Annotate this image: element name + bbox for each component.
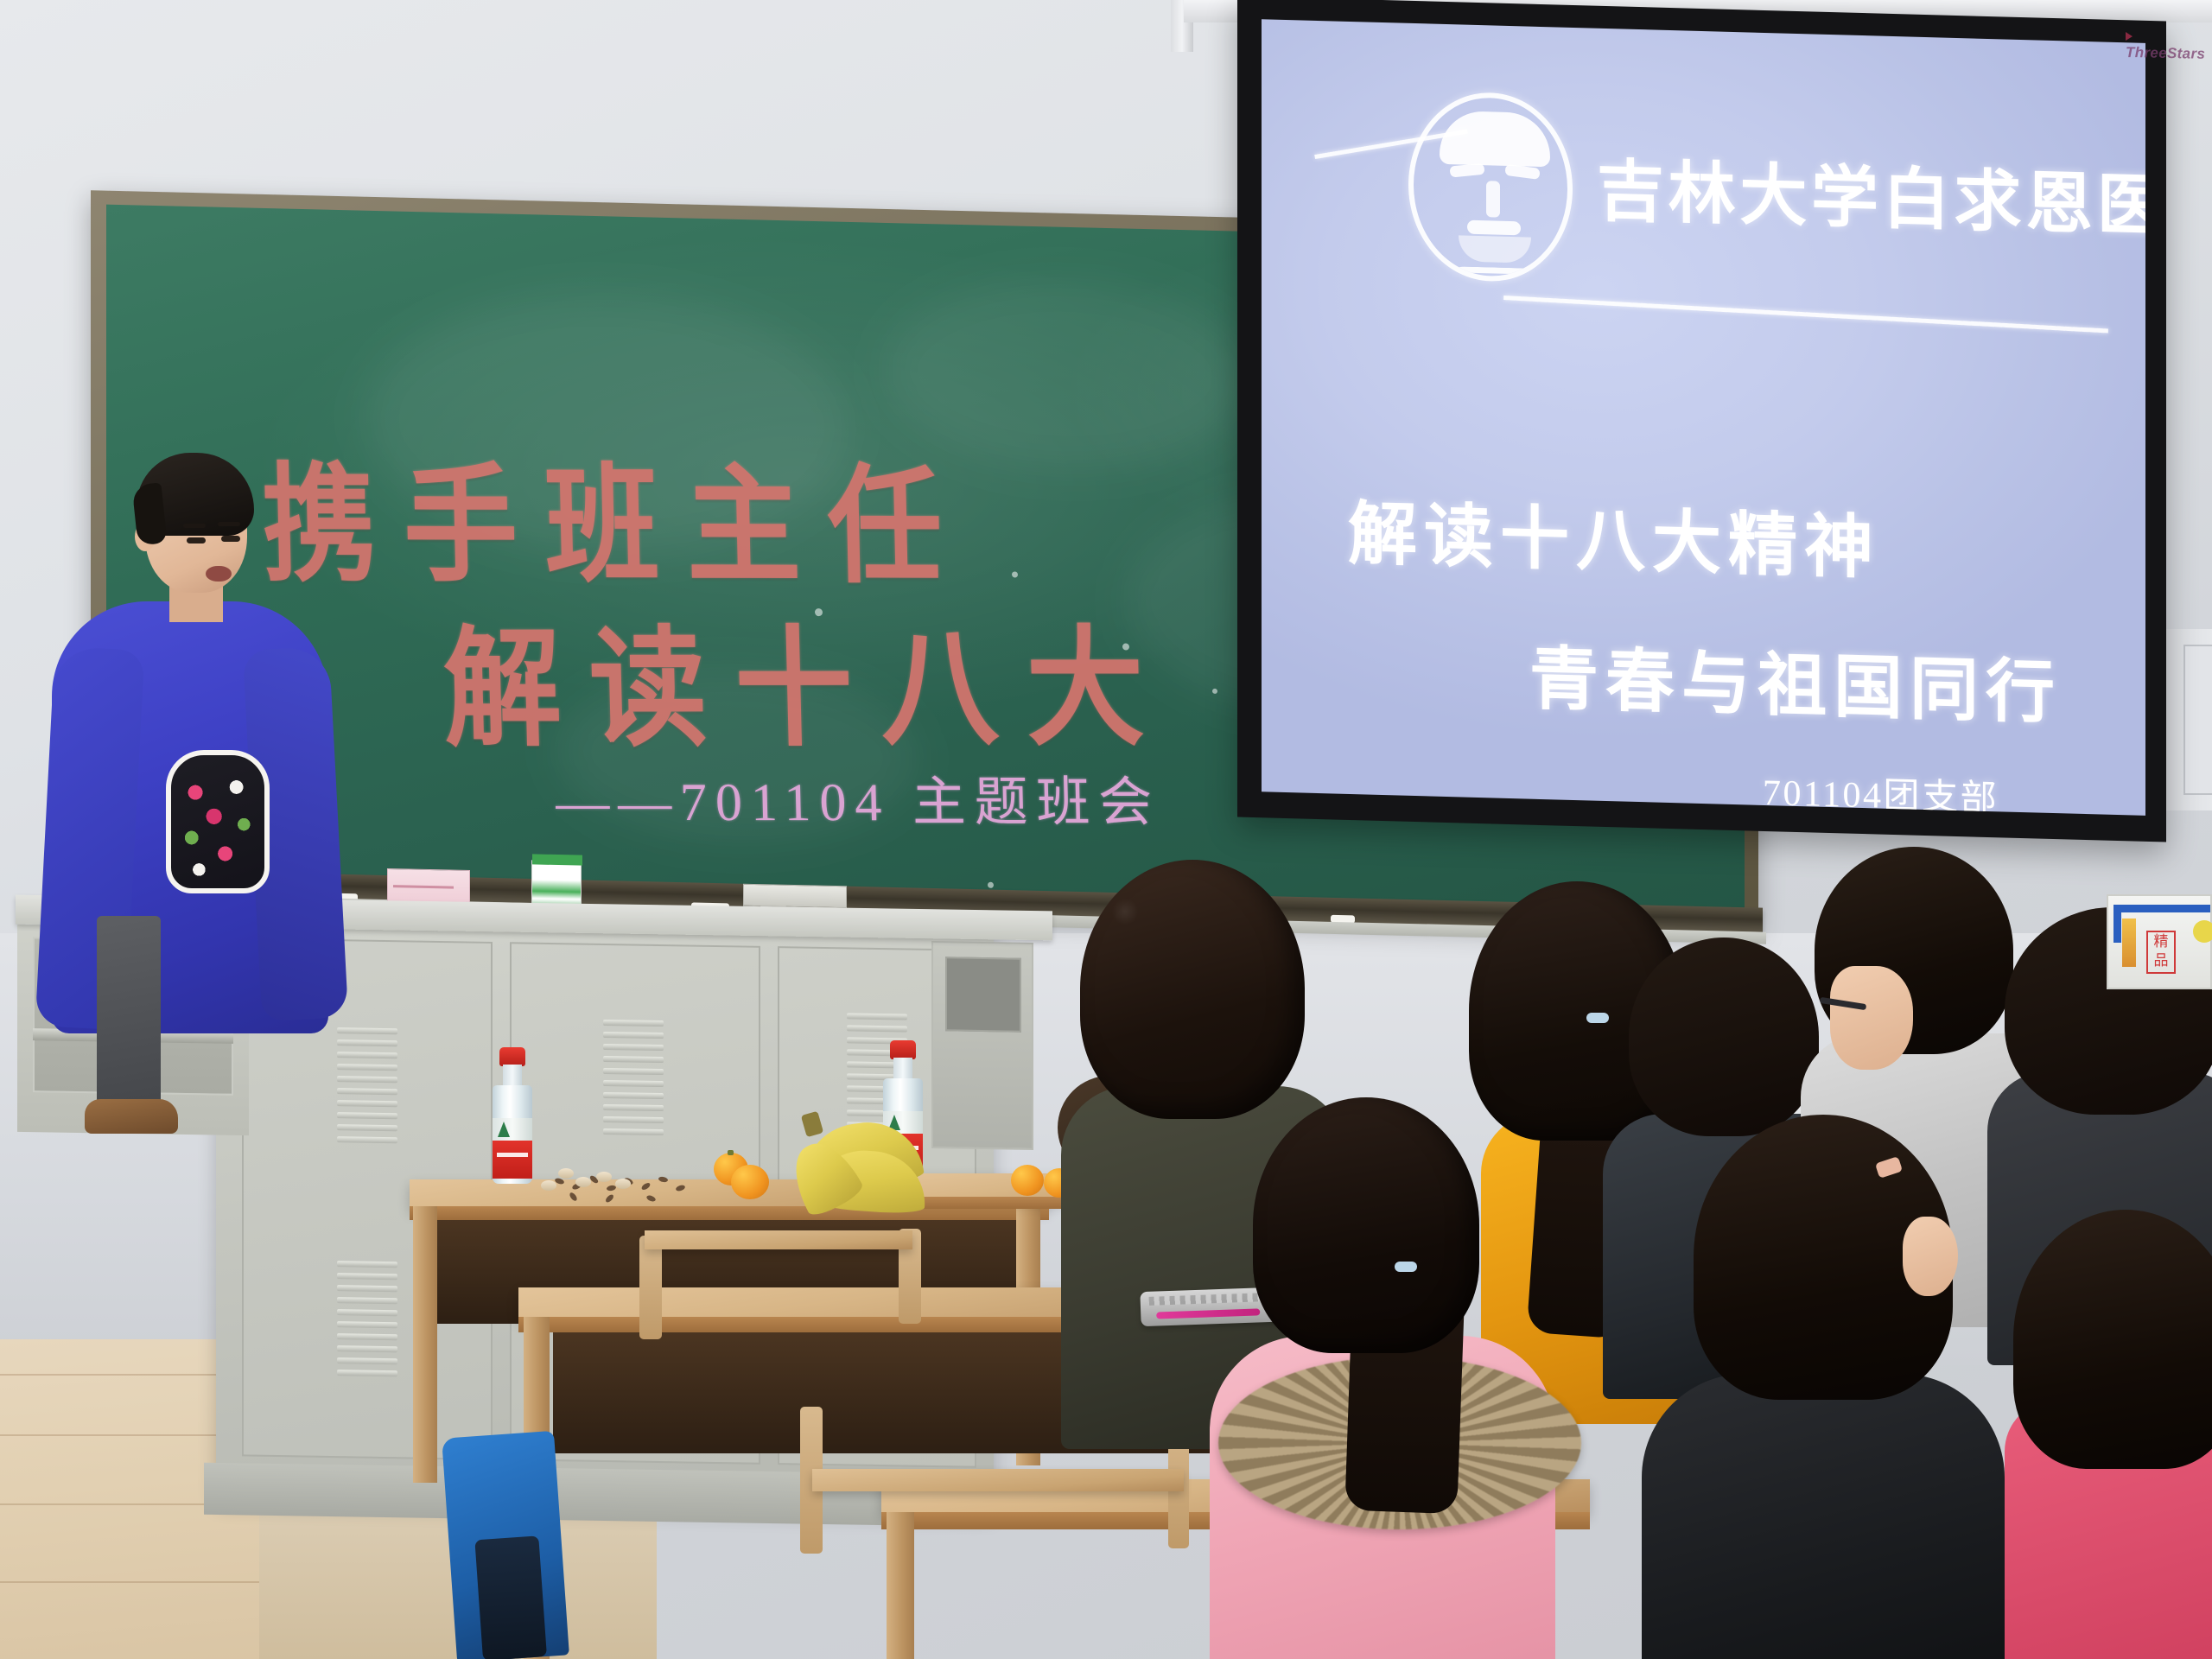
bottle-cap bbox=[890, 1040, 916, 1059]
presenter-legs bbox=[97, 916, 161, 1115]
presenter-sweater-graphic bbox=[166, 750, 270, 893]
presenter-eyebrow-right bbox=[218, 522, 240, 526]
bethune-portrait-icon bbox=[1408, 91, 1573, 283]
orange-2[interactable] bbox=[731, 1165, 769, 1199]
hair-tie bbox=[1395, 1262, 1417, 1272]
front-table-leg-left bbox=[413, 1206, 437, 1483]
projection-screen-frame: 吉林大学白求恩医学院 解读十八大精神 青春与祖国同行 701104团支部 bbox=[1237, 0, 2166, 842]
hair-tie bbox=[1586, 1013, 1609, 1023]
bottle-logo-icon bbox=[498, 1122, 510, 1137]
slide-title-line-2: 青春与祖国同行 bbox=[1529, 623, 2062, 738]
podium-side-compartment bbox=[931, 941, 1033, 1150]
projection-screen-surface: 吉林大学白求恩医学院 解读十八大精神 青春与祖国同行 701104团支部 bbox=[1262, 19, 2145, 816]
presenter-eye-left bbox=[187, 537, 206, 543]
box-circle-icon bbox=[2193, 920, 2212, 943]
slide-rule-bottom bbox=[1503, 296, 2108, 333]
bottle-cap bbox=[499, 1047, 525, 1066]
presenter-shoe bbox=[85, 1099, 178, 1134]
board-eraser bbox=[743, 884, 847, 909]
slide-organization: 吉林大学白求恩医学院 bbox=[1597, 137, 2145, 253]
screen-brand-label: ThreeStars bbox=[2126, 27, 2212, 63]
ponytail-hair bbox=[1253, 1097, 1479, 1353]
ear-and-neck bbox=[1903, 1217, 1958, 1296]
presenter-eyebrow-left bbox=[183, 524, 206, 528]
bench-back-1 bbox=[639, 1236, 662, 1339]
presenter-eye-right bbox=[221, 536, 240, 542]
bench-seat-1 bbox=[645, 1230, 912, 1249]
classroom-scene: 携手班主任 解读十八大 ——701104 主题班会 bbox=[0, 0, 2212, 1659]
slide-title-line-1: 解读十八大精神 bbox=[1348, 478, 1880, 593]
face-profile bbox=[1830, 966, 1913, 1070]
cardboard-box: 精品 bbox=[2107, 894, 2212, 989]
blackboard-line-2: 解读十八大 bbox=[441, 584, 1173, 772]
black-jacket bbox=[1642, 1374, 2005, 1659]
blackboard-subtitle: ——701104 主题班会 bbox=[555, 758, 1161, 836]
bench-seat-2 bbox=[812, 1469, 1184, 1491]
brand-triangle-icon bbox=[2126, 31, 2133, 40]
blue-bag[interactable] bbox=[442, 1431, 569, 1659]
student-desk-row2-leg bbox=[887, 1512, 914, 1659]
box-stamp: 精品 bbox=[2146, 931, 2176, 974]
slide-unit-label: 701104团支部 bbox=[1763, 763, 1999, 816]
presenter-mouth bbox=[206, 566, 232, 582]
long-hair-2 bbox=[2013, 1210, 2212, 1469]
presenter bbox=[52, 432, 337, 1348]
curly-hair bbox=[1080, 860, 1305, 1119]
student-ponytail-pink-jacket bbox=[1253, 1097, 1616, 1659]
short-hair bbox=[1629, 938, 1819, 1136]
wall-panel bbox=[2158, 629, 2212, 810]
orange-3[interactable] bbox=[1011, 1165, 1044, 1196]
blackboard-line-1: 携手班主任 bbox=[260, 422, 971, 608]
student-red-jacket-edge bbox=[2013, 1210, 2212, 1659]
